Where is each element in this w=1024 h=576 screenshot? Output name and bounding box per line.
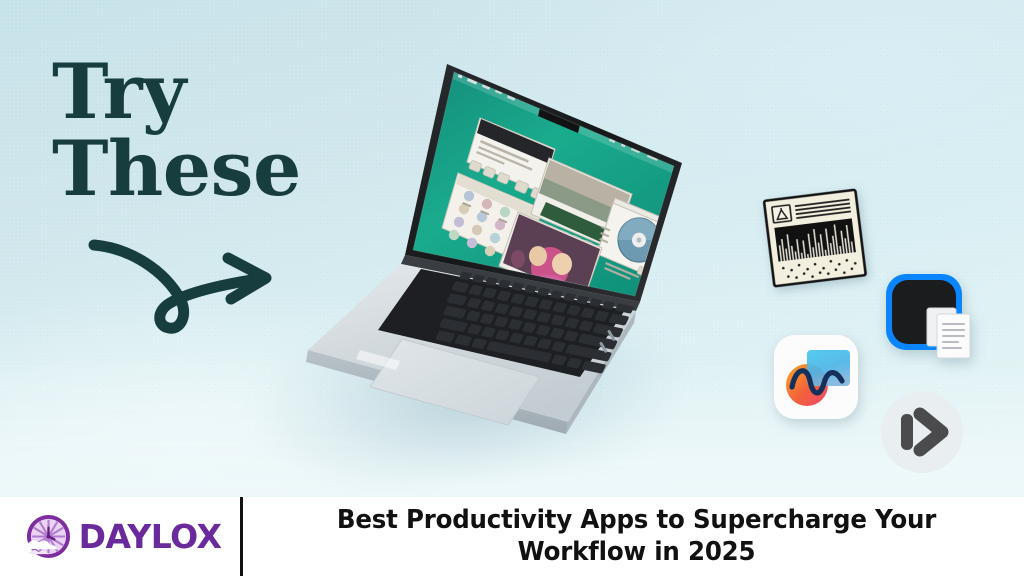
caption-headline: Best Productivity Apps to Supercharge Yo…: [243, 497, 1024, 576]
brand-wordmark: DAYLOX: [79, 520, 222, 553]
thumbnail-canvas: Try These: [0, 0, 1024, 576]
news-waveform-icon[interactable]: [762, 187, 868, 290]
bottom-caption-bar: DAYLOX Best Productivity Apps to Superch…: [0, 497, 1024, 576]
play-chevron-icon[interactable]: [878, 388, 966, 476]
caption-headline-text: Best Productivity Apps to Supercharge Yo…: [280, 505, 993, 567]
sun-clock-cloud-icon: [25, 513, 72, 560]
laptop-device: [250, 50, 690, 480]
freeform-squiggle-icon[interactable]: [772, 333, 860, 421]
brand-lockup[interactable]: DAYLOX: [0, 497, 240, 576]
notes-documents-icon[interactable]: [883, 272, 975, 364]
